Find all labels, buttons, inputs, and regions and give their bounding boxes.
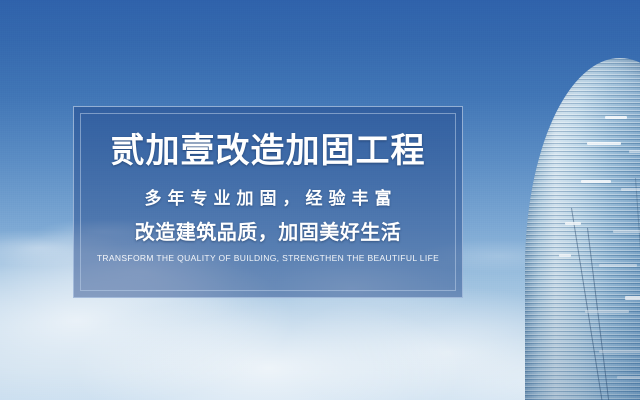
skyscraper-body <box>525 58 640 400</box>
tagline-cn: 改造建筑品质，加固美好生活 <box>135 223 402 243</box>
text-panel-content: 贰加壹改造加固工程 多年专业加固，经验丰富 改造建筑品质，加固美好生活 TRAN… <box>74 107 462 297</box>
skyscraper-photo <box>480 0 640 400</box>
page-title: 贰加壹改造加固工程 <box>111 134 426 168</box>
hero-banner: 贰加壹改造加固工程 多年专业加固，经验丰富 改造建筑品质，加固美好生活 TRAN… <box>0 0 640 400</box>
subtitle-line: 多年专业加固，经验丰富 <box>139 190 398 207</box>
skyscraper-shading <box>525 58 640 400</box>
text-panel: 贰加壹改造加固工程 多年专业加固，经验丰富 改造建筑品质，加固美好生活 TRAN… <box>73 106 463 298</box>
tagline-en: TRANSFORM THE QUALITY OF BUILDING, STREN… <box>97 254 439 263</box>
